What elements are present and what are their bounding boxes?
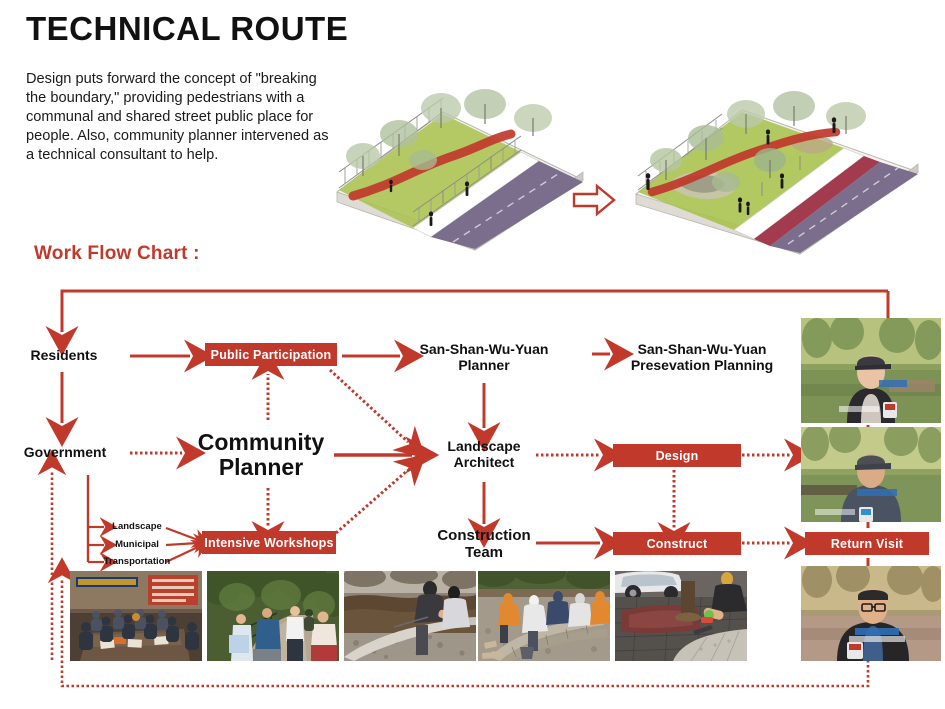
node-construction-team[interactable]: Construction Team	[424, 527, 544, 561]
box-design[interactable]: Design	[613, 444, 741, 467]
node-community-planner-line2: Planner	[186, 455, 336, 480]
photo-paving-work	[478, 571, 610, 661]
node-sanshan-preservation[interactable]: San-Shan-Wu-Yuan Presevation Planning	[612, 341, 792, 373]
dept-municipal[interactable]: Municipal	[106, 539, 168, 550]
photo-community-meeting	[70, 571, 202, 661]
photo-interview-older-man	[801, 427, 941, 522]
node-sanshan-planner-line1: San-Shan-Wu-Yuan	[404, 341, 564, 357]
intro-paragraph: Design puts forward the concept of "brea…	[26, 70, 336, 165]
dept-landscape[interactable]: Landscape	[106, 521, 168, 532]
photo-interview-woman-cap	[801, 318, 941, 423]
node-government[interactable]: Government	[10, 445, 120, 460]
node-construction-team-line2: Team	[424, 544, 544, 561]
box-public-participation[interactable]: Public Participation	[205, 343, 337, 366]
node-landscape-architect-line1: Landscape	[428, 438, 540, 454]
photo-interview-man-glasses	[801, 566, 941, 661]
box-return-visit[interactable]: Return Visit	[805, 532, 929, 555]
photo-site-survey	[207, 571, 339, 661]
node-construction-team-line1: Construction	[424, 527, 544, 544]
work-flow-chart-label: Work Flow Chart :	[34, 243, 200, 265]
transition-arrow-icon	[572, 183, 616, 218]
node-landscape-architect[interactable]: Landscape Architect	[428, 438, 540, 470]
technical-route-poster: TECHNICAL ROUTE Design puts forward the …	[0, 0, 945, 709]
node-sanshan-planner-line2: Planner	[404, 357, 564, 373]
node-community-planner[interactable]: Community Planner	[186, 430, 336, 480]
node-residents[interactable]: Residents	[16, 348, 112, 363]
photo-tree-pit-paving	[615, 571, 747, 661]
diagram-before-isometric	[325, 72, 585, 252]
box-construct[interactable]: Construct	[613, 532, 741, 555]
node-landscape-architect-line2: Architect	[428, 454, 540, 470]
photo-construction-curb	[344, 571, 476, 661]
dept-transportation[interactable]: Transportation	[98, 556, 176, 567]
node-sanshan-preservation-line2: Presevation Planning	[612, 357, 792, 373]
diagram-after-isometric	[622, 72, 922, 257]
node-sanshan-planner[interactable]: San-Shan-Wu-Yuan Planner	[404, 341, 564, 373]
page-title: TECHNICAL ROUTE	[26, 10, 348, 48]
node-sanshan-preservation-line1: San-Shan-Wu-Yuan	[612, 341, 792, 357]
box-intensive-workshops[interactable]: Intensive Workshops	[202, 531, 336, 554]
node-community-planner-line1: Community	[186, 430, 336, 455]
